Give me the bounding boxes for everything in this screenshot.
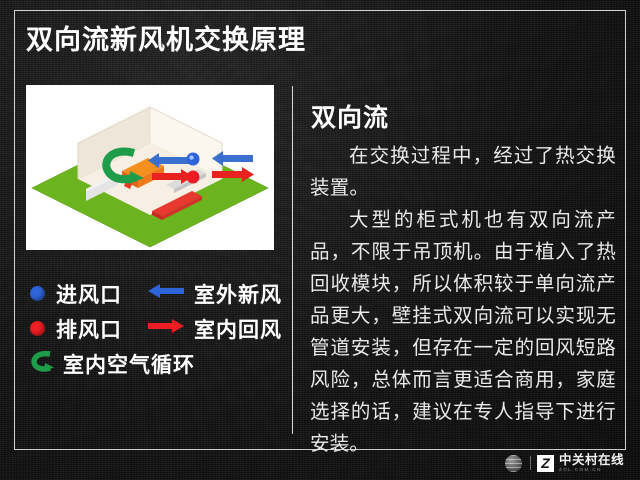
legend-label: 室内回风 <box>194 314 282 344</box>
legend-item-supply-port: 进风口 <box>30 279 148 309</box>
legend-row: 室内空气循环 <box>30 346 285 381</box>
red-circle-icon <box>30 321 45 336</box>
illustration-panel <box>26 85 274 250</box>
legend-item-exhaust-port: 排风口 <box>30 314 148 344</box>
column-divider <box>292 86 293 434</box>
blue-left-arrow-icon <box>148 284 184 303</box>
article-paragraph: 在交换过程中，经过了热交换装置。 <box>310 140 616 204</box>
article-subheading: 双向流 <box>311 98 389 134</box>
article-body: 在交换过程中，经过了热交换装置。 大型的柜式机也有双向流产品，不限于吊顶机。由于… <box>310 140 616 460</box>
legend-item-indoor-return-air: 室内回风 <box>148 314 282 344</box>
legend-label: 室内空气循环 <box>63 349 195 379</box>
legend-label: 排风口 <box>56 314 122 344</box>
site-logo: Z 中关村在线 ZOL.COM.CN <box>505 452 624 474</box>
page-title: 双向流新风机交换原理 <box>26 18 306 57</box>
legend-item-outdoor-fresh-air: 室外新风 <box>148 279 282 309</box>
blue-circle-icon <box>30 286 45 301</box>
slide-canvas: 双向流新风机交换原理 <box>0 0 640 480</box>
zol-z-mark: Z <box>537 455 554 472</box>
article-paragraph: 大型的柜式机也有双向流产品，不限于吊顶机。由于植入了热回收模块，所以体积较于单向… <box>310 204 616 460</box>
globe-icon <box>505 455 522 472</box>
legend-label: 室外新风 <box>194 279 282 309</box>
green-curved-arrow-icon <box>30 350 54 377</box>
legend-label: 进风口 <box>56 279 122 309</box>
legend: 进风口 室外新风 排风口 室内回风 <box>30 276 285 381</box>
legend-row: 排风口 室内回风 <box>30 311 285 346</box>
logo-brand-cn: 中关村在线 <box>559 454 624 467</box>
room-isometric-diagram <box>26 85 274 250</box>
logo-text: 中关村在线 ZOL.COM.CN <box>559 454 624 473</box>
legend-row: 进风口 室外新风 <box>30 276 285 311</box>
red-right-arrow-icon <box>148 319 184 338</box>
logo-brand-sub: ZOL.COM.CN <box>559 467 624 473</box>
legend-item-indoor-air-circulation: 室内空气循环 <box>30 349 195 379</box>
logo-separator <box>530 456 531 470</box>
